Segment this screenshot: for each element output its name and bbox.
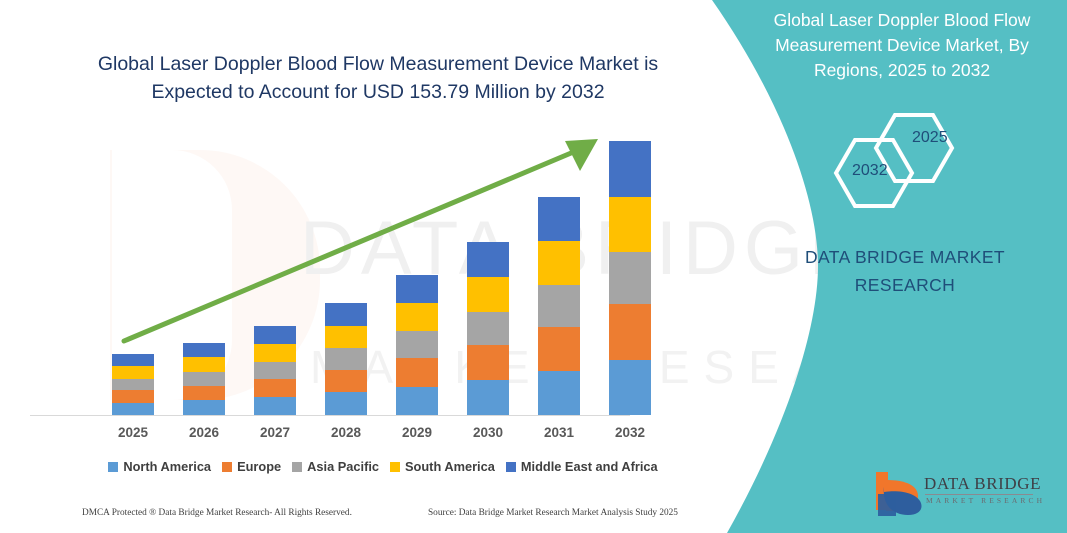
bar-segment: [325, 348, 367, 370]
bar-2030: [467, 242, 509, 415]
bar-segment: [467, 380, 509, 415]
legend-label: Asia Pacific: [307, 459, 379, 474]
bar-segment: [609, 197, 651, 252]
brand-name: DATA BRIDGE MARKET RESEARCH: [770, 243, 1040, 299]
footer-copyright: DMCA Protected ® Data Bridge Market Rese…: [82, 508, 352, 518]
bar-segment: [112, 366, 154, 378]
legend-swatch-icon: [390, 462, 400, 472]
bar-segment: [538, 327, 580, 371]
legend-item[interactable]: North America: [108, 459, 211, 474]
logo-wordmark: DATA BRIDGE: [924, 474, 1041, 494]
bar-2032: [609, 141, 651, 415]
legend-swatch-icon: [222, 462, 232, 472]
infographic-canvas: DATA BRIDGE MARKET RESEARCH Global Laser…: [0, 0, 1067, 533]
bar-segment: [112, 403, 154, 415]
bar-segment: [396, 358, 438, 386]
legend-swatch-icon: [506, 462, 516, 472]
logo-tagline: MARKET RESEARCH: [926, 496, 1045, 505]
bar-segment: [325, 392, 367, 415]
bar-segment: [467, 277, 509, 312]
bar-2029: [396, 275, 438, 415]
bar-segment: [254, 326, 296, 344]
x-axis-label-2027: 2027: [245, 425, 305, 440]
bar-segment: [183, 372, 225, 386]
x-axis-label-2031: 2031: [529, 425, 589, 440]
legend-item[interactable]: Europe: [222, 459, 281, 474]
bar-segment: [467, 242, 509, 277]
legend-swatch-icon: [292, 462, 302, 472]
bar-segment: [183, 357, 225, 372]
bar-segment: [396, 303, 438, 331]
panel-title: Global Laser Doppler Blood Flow Measurem…: [752, 8, 1052, 83]
x-axis-labels: 20252026202720282029203020312032: [0, 425, 700, 447]
bar-2026: [183, 343, 225, 415]
bar-segment: [112, 354, 154, 366]
x-axis-label-2032: 2032: [600, 425, 660, 440]
bar-segment: [609, 252, 651, 304]
hex-label-2025: 2025: [912, 129, 948, 147]
bar-segment: [254, 362, 296, 379]
chart-legend: North AmericaEuropeAsia PacificSouth Ame…: [78, 459, 688, 474]
bar-segment: [254, 397, 296, 415]
x-axis-label-2029: 2029: [387, 425, 447, 440]
bar-segment: [183, 343, 225, 358]
bar-segment: [467, 345, 509, 380]
legend-swatch-icon: [108, 462, 118, 472]
logo-divider: [925, 494, 1033, 495]
bar-segment: [325, 370, 367, 393]
bar-2028: [325, 303, 367, 415]
bar-segment: [467, 312, 509, 345]
bar-2027: [254, 326, 296, 415]
bar-2031: [538, 196, 580, 415]
bar-segment: [538, 285, 580, 327]
bar-segment: [112, 379, 154, 390]
bar-segment: [396, 331, 438, 358]
bar-segment: [325, 326, 367, 349]
bar-segment: [183, 386, 225, 401]
hexagon-badges: [820, 100, 1020, 210]
bar-segment: [396, 275, 438, 303]
x-axis-label-2025: 2025: [103, 425, 163, 440]
bar-segment: [254, 344, 296, 362]
bar-segment: [609, 304, 651, 359]
bar-segment: [396, 387, 438, 415]
footer-source: Source: Data Bridge Market Research Mark…: [428, 508, 678, 518]
legend-label: South America: [405, 459, 495, 474]
bar-segment: [609, 141, 651, 196]
bar-segment: [183, 400, 225, 415]
chart-title: Global Laser Doppler Blood Flow Measurem…: [78, 50, 678, 106]
legend-item[interactable]: Middle East and Africa: [506, 459, 658, 474]
legend-label: Europe: [237, 459, 281, 474]
legend-item[interactable]: South America: [390, 459, 495, 474]
bar-segment: [538, 241, 580, 285]
legend-item[interactable]: Asia Pacific: [292, 459, 379, 474]
bar-2025: [112, 354, 154, 415]
bar-segment: [325, 303, 367, 326]
legend-label: North America: [123, 459, 211, 474]
bar-segment: [538, 197, 580, 241]
x-axis-label-2028: 2028: [316, 425, 376, 440]
company-logo: DATA BRIDGE MARKET RESEARCH: [868, 470, 1038, 520]
bar-segment: [112, 390, 154, 402]
bar-segment: [538, 371, 580, 415]
bar-segment: [609, 360, 651, 415]
legend-label: Middle East and Africa: [521, 459, 658, 474]
x-axis-label-2026: 2026: [174, 425, 234, 440]
hex-label-2032: 2032: [852, 162, 888, 180]
bar-segment: [254, 379, 296, 397]
x-axis-label-2030: 2030: [458, 425, 518, 440]
